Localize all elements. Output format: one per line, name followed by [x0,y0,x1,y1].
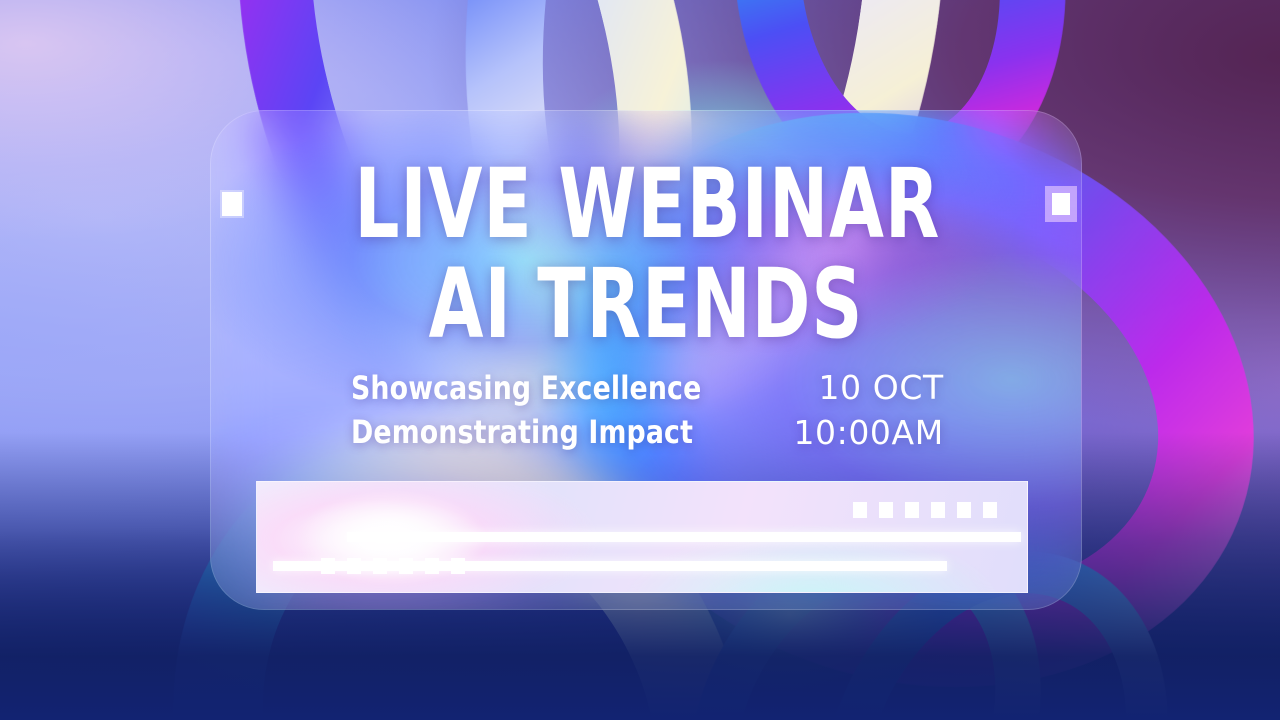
panel-dot-icon [425,558,439,574]
schedule-block: 10 OCT 10:00AM [784,366,944,455]
event-date: 10 OCT [784,366,944,411]
panel-dot-icon [451,558,465,574]
card-content: LIVE WEBINAR AI TRENDS Showcasing Excell… [211,111,1081,609]
event-time: 10:00AM [784,411,944,456]
panel-dot-icon [321,558,335,574]
glass-card: LIVE WEBINAR AI TRENDS Showcasing Excell… [210,110,1082,610]
tagline-line-1: Showcasing Excellence [351,366,701,410]
panel-dot-icon [853,502,867,518]
panel-dot-icon [905,502,919,518]
panel-dot-icon [957,502,971,518]
panel-rule-upper [347,532,1021,542]
panel-dots-bottom-left [321,558,465,574]
page-subtitle-headline: AI TRENDS [289,263,1002,346]
headline-row: LIVE WEBINAR [211,163,1081,246]
square-marker-right-icon [1052,193,1070,215]
panel-dot-icon [879,502,893,518]
panel-dot-icon [347,558,361,574]
panel-dot-icon [983,502,997,518]
subtitle-row: Showcasing Excellence Demonstrating Impa… [351,366,944,455]
page-title: LIVE WEBINAR [354,163,940,246]
tagline-line-2: Demonstrating Impact [351,410,701,454]
panel-dot-icon [399,558,413,574]
panel-dot-icon [931,502,945,518]
tagline-block: Showcasing Excellence Demonstrating Impa… [351,366,701,454]
square-marker-left-icon [222,192,242,216]
panel-dot-icon [373,558,387,574]
info-panel [256,481,1028,593]
panel-dots-top-right [853,502,997,518]
poster-canvas: LIVE WEBINAR AI TRENDS Showcasing Excell… [0,0,1280,720]
